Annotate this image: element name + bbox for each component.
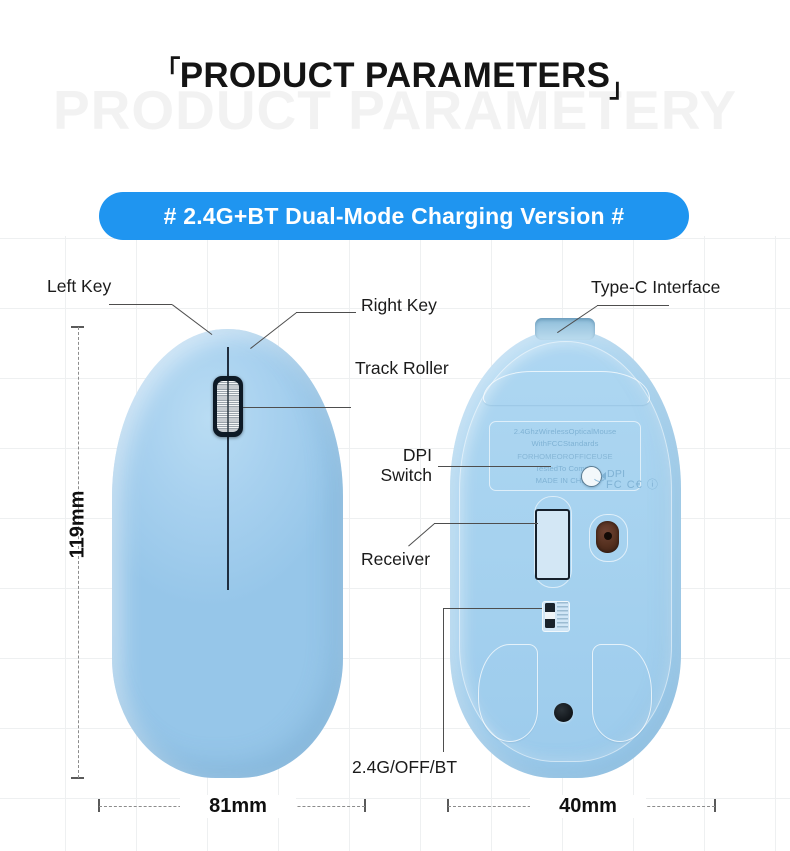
bracket-close-icon: 」	[609, 73, 635, 103]
leader-right-key-horizontal	[296, 312, 356, 313]
mouse-top-view	[112, 329, 343, 778]
label-line-1: 2.4GhzWirelessOpticalMouse	[490, 426, 640, 438]
dim-width-bottom-text: 40mm	[530, 795, 646, 818]
leader-dpi-switch	[438, 466, 551, 467]
callout-left-key: Left Key	[47, 276, 111, 296]
product-label-plate: 2.4GhzWirelessOpticalMouse WithFCCStanda…	[489, 421, 641, 491]
page-title-block: PRODUCT PARAMETERY 「PRODUCT PARAMETERS」	[0, 56, 790, 136]
leader-mode-switch-vertical	[443, 608, 444, 752]
leader-mode-switch-horizontal	[443, 608, 542, 609]
page-title-text: PRODUCT PARAMETERS	[180, 56, 611, 95]
leader-receiver-horizontal	[434, 523, 538, 524]
leader-type-c-horizontal	[597, 305, 669, 306]
mouse-bottom-view: 2.4GhzWirelessOpticalMouse WithFCCStanda…	[450, 329, 681, 778]
label-line-2: WithFCCStandards	[490, 438, 640, 450]
bracket-open-icon: 「	[154, 55, 180, 85]
leader-left-key-horizontal	[109, 304, 172, 305]
label-line-3: FORHOMEOROFFICEUSE	[490, 451, 640, 463]
receiver-slot	[535, 509, 570, 580]
dim-width-top-text: 81mm	[180, 795, 296, 818]
glide-pad-bottom-left	[478, 644, 538, 742]
product-parameters-infographic: PRODUCT PARAMETERY 「PRODUCT PARAMETERS」 …	[0, 0, 790, 851]
type-c-port	[535, 318, 595, 340]
version-banner-text: # 2.4G+BT Dual-Mode Charging Version #	[164, 203, 625, 230]
mode-switch-markings	[557, 602, 568, 629]
glide-pad-top	[483, 371, 650, 405]
leader-track-roller	[243, 407, 351, 408]
callout-right-key: Right Key	[361, 295, 437, 315]
callout-dpi-switch: DPI Switch	[330, 445, 432, 485]
callout-type-c: Type-C Interface	[591, 277, 720, 297]
dim-height-text: 119mm	[67, 477, 90, 573]
certification-marks: ︶FC C€ ⓘ	[594, 476, 659, 492]
callout-mode-switch: 2.4G/OFF/BT	[352, 757, 457, 777]
page-title: 「PRODUCT PARAMETERS」	[0, 56, 790, 96]
bottom-vent-hole	[554, 703, 573, 722]
mode-switch-track	[545, 603, 555, 628]
scroll-wheel-groove	[227, 381, 229, 432]
glide-pad-bottom-right	[592, 644, 652, 742]
callout-receiver: Receiver	[361, 549, 430, 569]
scroll-wheel	[213, 376, 243, 437]
callout-track-roller: Track Roller	[355, 358, 449, 378]
optical-sensor-aperture	[604, 532, 612, 540]
version-banner: # 2.4G+BT Dual-Mode Charging Version #	[99, 192, 689, 240]
